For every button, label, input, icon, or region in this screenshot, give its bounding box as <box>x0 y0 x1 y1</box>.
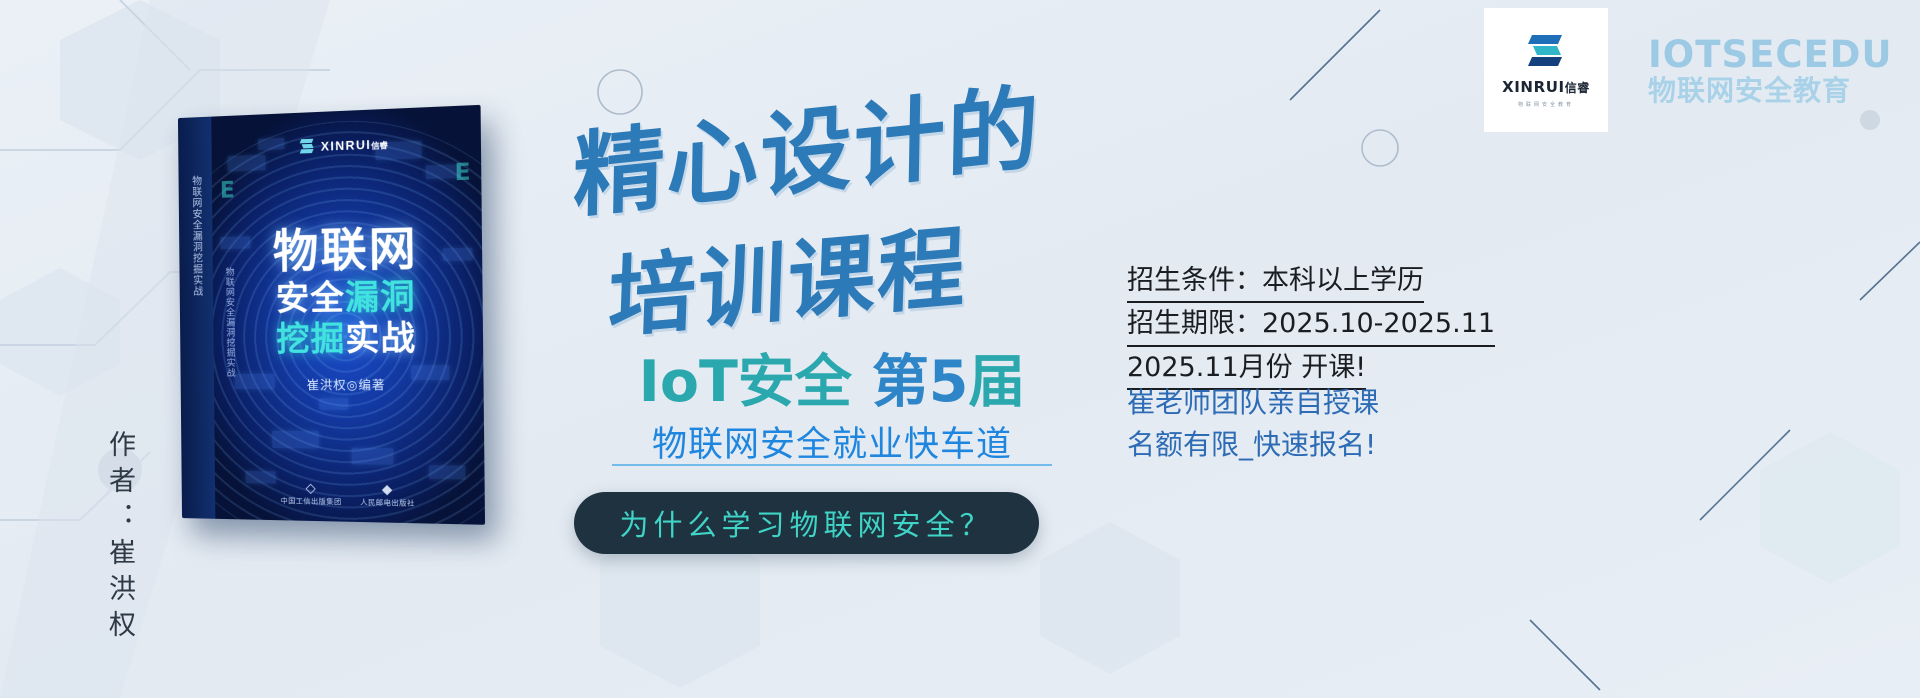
subtitle-underline <box>612 464 1052 466</box>
publisher-2: ◆ 人民邮电出版社 <box>360 482 415 509</box>
enrollment-info: 招生条件：本科以上学历 招生期限：2025.10-2025.11 2025.11… <box>1127 262 1517 392</box>
headline-subtitle: 物联网安全就业快车道 <box>602 416 1062 467</box>
cover-title-line2: 安全漏洞 <box>213 276 483 319</box>
enrollment-condition: 招生条件：本科以上学历 <box>1127 262 1424 303</box>
cta-pill-label: 为什么学习物联网安全？ <box>619 502 993 544</box>
edition-suffix: 届 <box>968 349 1025 415</box>
xinrui-logo-mark-icon <box>299 139 314 155</box>
book-3d: 物联网安全漏洞挖掘实战 <box>178 105 485 525</box>
book-spine-text: 物联网安全漏洞挖掘实战 <box>188 175 204 297</box>
publisher-2-icon: ◆ <box>360 482 415 500</box>
xinrui-logo-mark-icon <box>1526 33 1566 73</box>
book-front-cover: E E 物联网安全漏洞挖掘实战 XINRUI信睿 物联网 <box>211 105 485 525</box>
brand-wordmark: IOTSECEDU 物联网安全教育 <box>1648 36 1893 107</box>
edition-prefix: 第 <box>872 349 929 415</box>
brand-name: XINRUI信睿 <box>1502 78 1590 96</box>
brand-logo-card: XINRUI信睿 物联网安全教育 <box>1484 8 1608 132</box>
cta-pill-button[interactable]: 为什么学习物联网安全？ <box>574 492 1039 554</box>
promo-banner: 作者：崔洪权 物联网安全漏洞挖掘实战 <box>0 0 1920 698</box>
brand-tagline: 物联网安全教育 <box>1518 101 1574 108</box>
book-spine: 物联网安全漏洞挖掘实战 <box>178 117 215 519</box>
headline-iot-line: IoT安全 第5届 <box>602 336 1062 418</box>
edition-number: 5 <box>929 349 969 415</box>
cover-title: 物联网 安全漏洞 挖掘实战 <box>212 222 483 359</box>
cover-author-credit: 崔洪权◎编著 <box>214 376 484 394</box>
publisher-1: ◇ 中国工信出版集团 <box>280 481 341 508</box>
book-cover: 物联网安全漏洞挖掘实战 <box>180 118 500 538</box>
cover-title-line1: 物联网 <box>212 222 482 276</box>
enrollment-cta: 崔老师团队亲自授课 名额有限_快速报名! <box>1127 382 1379 466</box>
cta-limited-line: 名额有限_快速报名! <box>1127 424 1379 466</box>
brand-wordmark-en: IOTSECEDU <box>1648 36 1893 73</box>
cta-instructor-line: 崔老师团队亲自授课 <box>1127 382 1379 424</box>
iot-label: IoT安全 <box>639 349 852 415</box>
cover-corner-mark-right: E <box>454 160 470 187</box>
cover-corner-mark-left: E <box>220 178 235 204</box>
brand-wordmark-cn: 物联网安全教育 <box>1648 75 1893 107</box>
publisher-1-icon: ◇ <box>280 481 341 499</box>
author-vertical-label: 作者：崔洪权 <box>100 430 139 646</box>
cover-title-line3: 挖掘实战 <box>213 318 483 359</box>
cover-brand-name: XINRUI信睿 <box>321 136 388 153</box>
enrollment-period: 招生期限：2025.10-2025.11 <box>1127 305 1495 346</box>
cover-publishers: ◇ 中国工信出版集团 ◆ 人民邮电出版社 <box>215 480 485 511</box>
headline-script-line1: 精心设计的 <box>572 53 1042 236</box>
